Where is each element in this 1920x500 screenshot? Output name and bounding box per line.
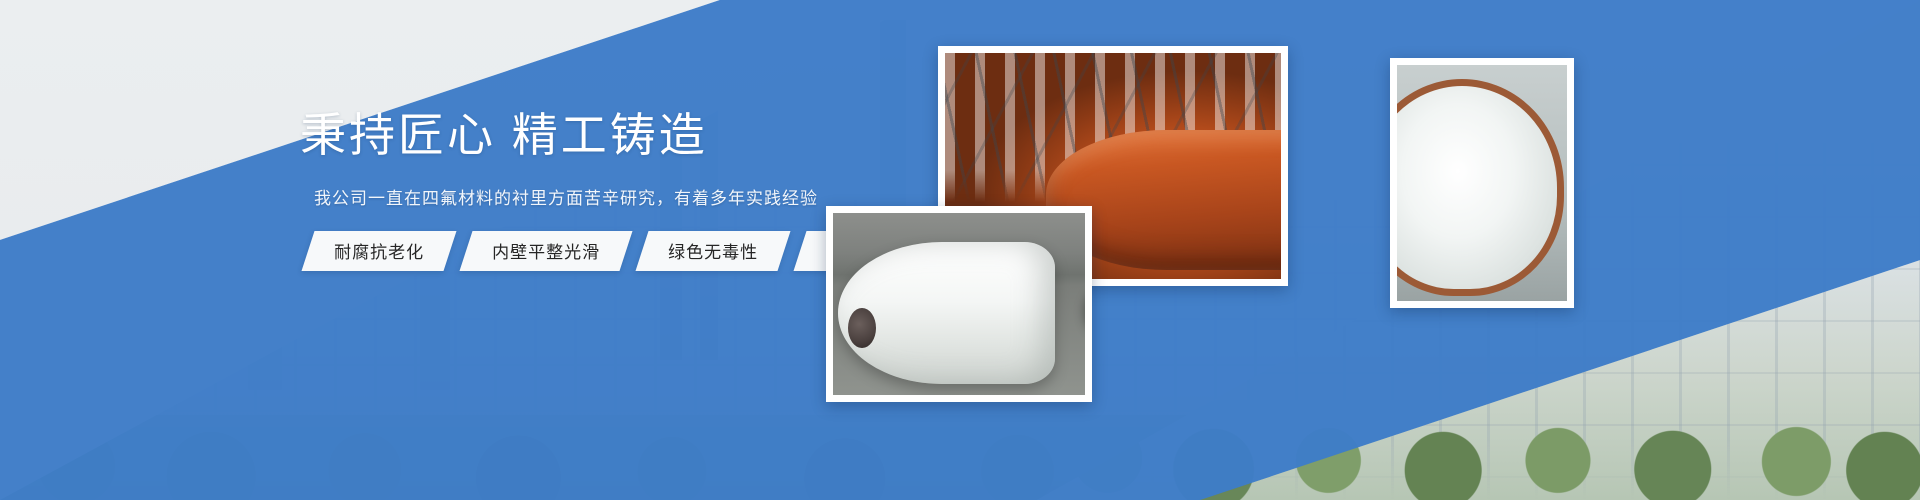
feature-tag-2-label: 内壁平整光滑 (492, 238, 600, 263)
feature-tag-3-label: 绿色无毒性 (668, 238, 758, 263)
product-photo-card-2 (826, 206, 1092, 402)
hero-banner: 秉持匠心 精工铸造 我公司一直在四氟材料的衬里方面苦辛研究，有着多年实践经验 耐… (0, 0, 1920, 500)
ptfe-lined-cylinder-opening-image (1397, 65, 1567, 301)
product-photo-card-3 (1390, 58, 1574, 308)
feature-tag-1-label: 耐腐抗老化 (334, 238, 424, 263)
feature-tag-1[interactable]: 耐腐抗老化 (302, 231, 457, 271)
white-lined-pressure-tank-image (833, 213, 1085, 395)
banner-headline: 秉持匠心 精工铸造 (300, 108, 920, 162)
feature-tag-2[interactable]: 内壁平整光滑 (460, 231, 633, 271)
feature-tag-3[interactable]: 绿色无毒性 (636, 231, 791, 271)
